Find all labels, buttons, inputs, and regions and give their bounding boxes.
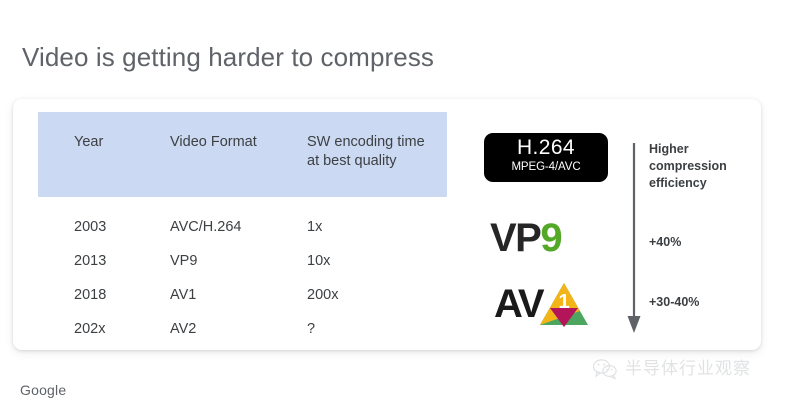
table-row: 10x [307, 252, 432, 271]
av1-logo: AV 1 [494, 281, 590, 327]
wechat-icon [592, 358, 618, 380]
annotation-gain-av1: +30-40% [649, 294, 699, 311]
table-row: 2013 [74, 252, 169, 271]
vp9-prefix: VP [490, 216, 540, 260]
column-header-year: Year [74, 133, 169, 152]
annotation-higher-compression-efficiency: Higher compression efficiency [649, 141, 754, 192]
page-title: Video is getting harder to compress [22, 41, 434, 73]
slide-canvas: Video is getting harder to compress Year… [0, 0, 800, 406]
watermark: 半导体行业观察 [592, 355, 751, 383]
google-wordmark: Google [20, 381, 66, 399]
svg-text:1: 1 [558, 291, 569, 313]
h264-name: H.264 [484, 136, 608, 160]
table-row: 1x [307, 218, 432, 237]
column-header-sw-encoding-time: SW encoding time at best quality [307, 133, 432, 171]
table-row: AV2 [170, 320, 305, 339]
table-row: 2003 [74, 218, 169, 237]
downward-arrow-icon [626, 143, 642, 333]
vp9-numeral: 9 [540, 216, 561, 260]
table-row: VP9 [170, 252, 305, 271]
av1-prefix: AV [494, 281, 543, 327]
watermark-text: 半导体行业观察 [625, 358, 751, 380]
content-card: Year Video Format SW encoding time at be… [13, 99, 761, 350]
column-header-video-format: Video Format [170, 133, 305, 152]
table-row: 202x [74, 320, 169, 339]
annotation-gain-vp9: +40% [649, 234, 681, 251]
av1-triangle-mark: 1 [538, 281, 590, 327]
table-row: AVC/H.264 [170, 218, 305, 237]
table-row: AV1 [170, 286, 305, 305]
h264-subtitle: MPEG-4/AVC [484, 160, 608, 174]
vp9-logo: VP9 [490, 217, 561, 259]
table-row: ? [307, 320, 432, 339]
h264-logo-badge: H.264 MPEG-4/AVC [484, 133, 608, 182]
table-row: 2018 [74, 286, 169, 305]
table-row: 200x [307, 286, 432, 305]
